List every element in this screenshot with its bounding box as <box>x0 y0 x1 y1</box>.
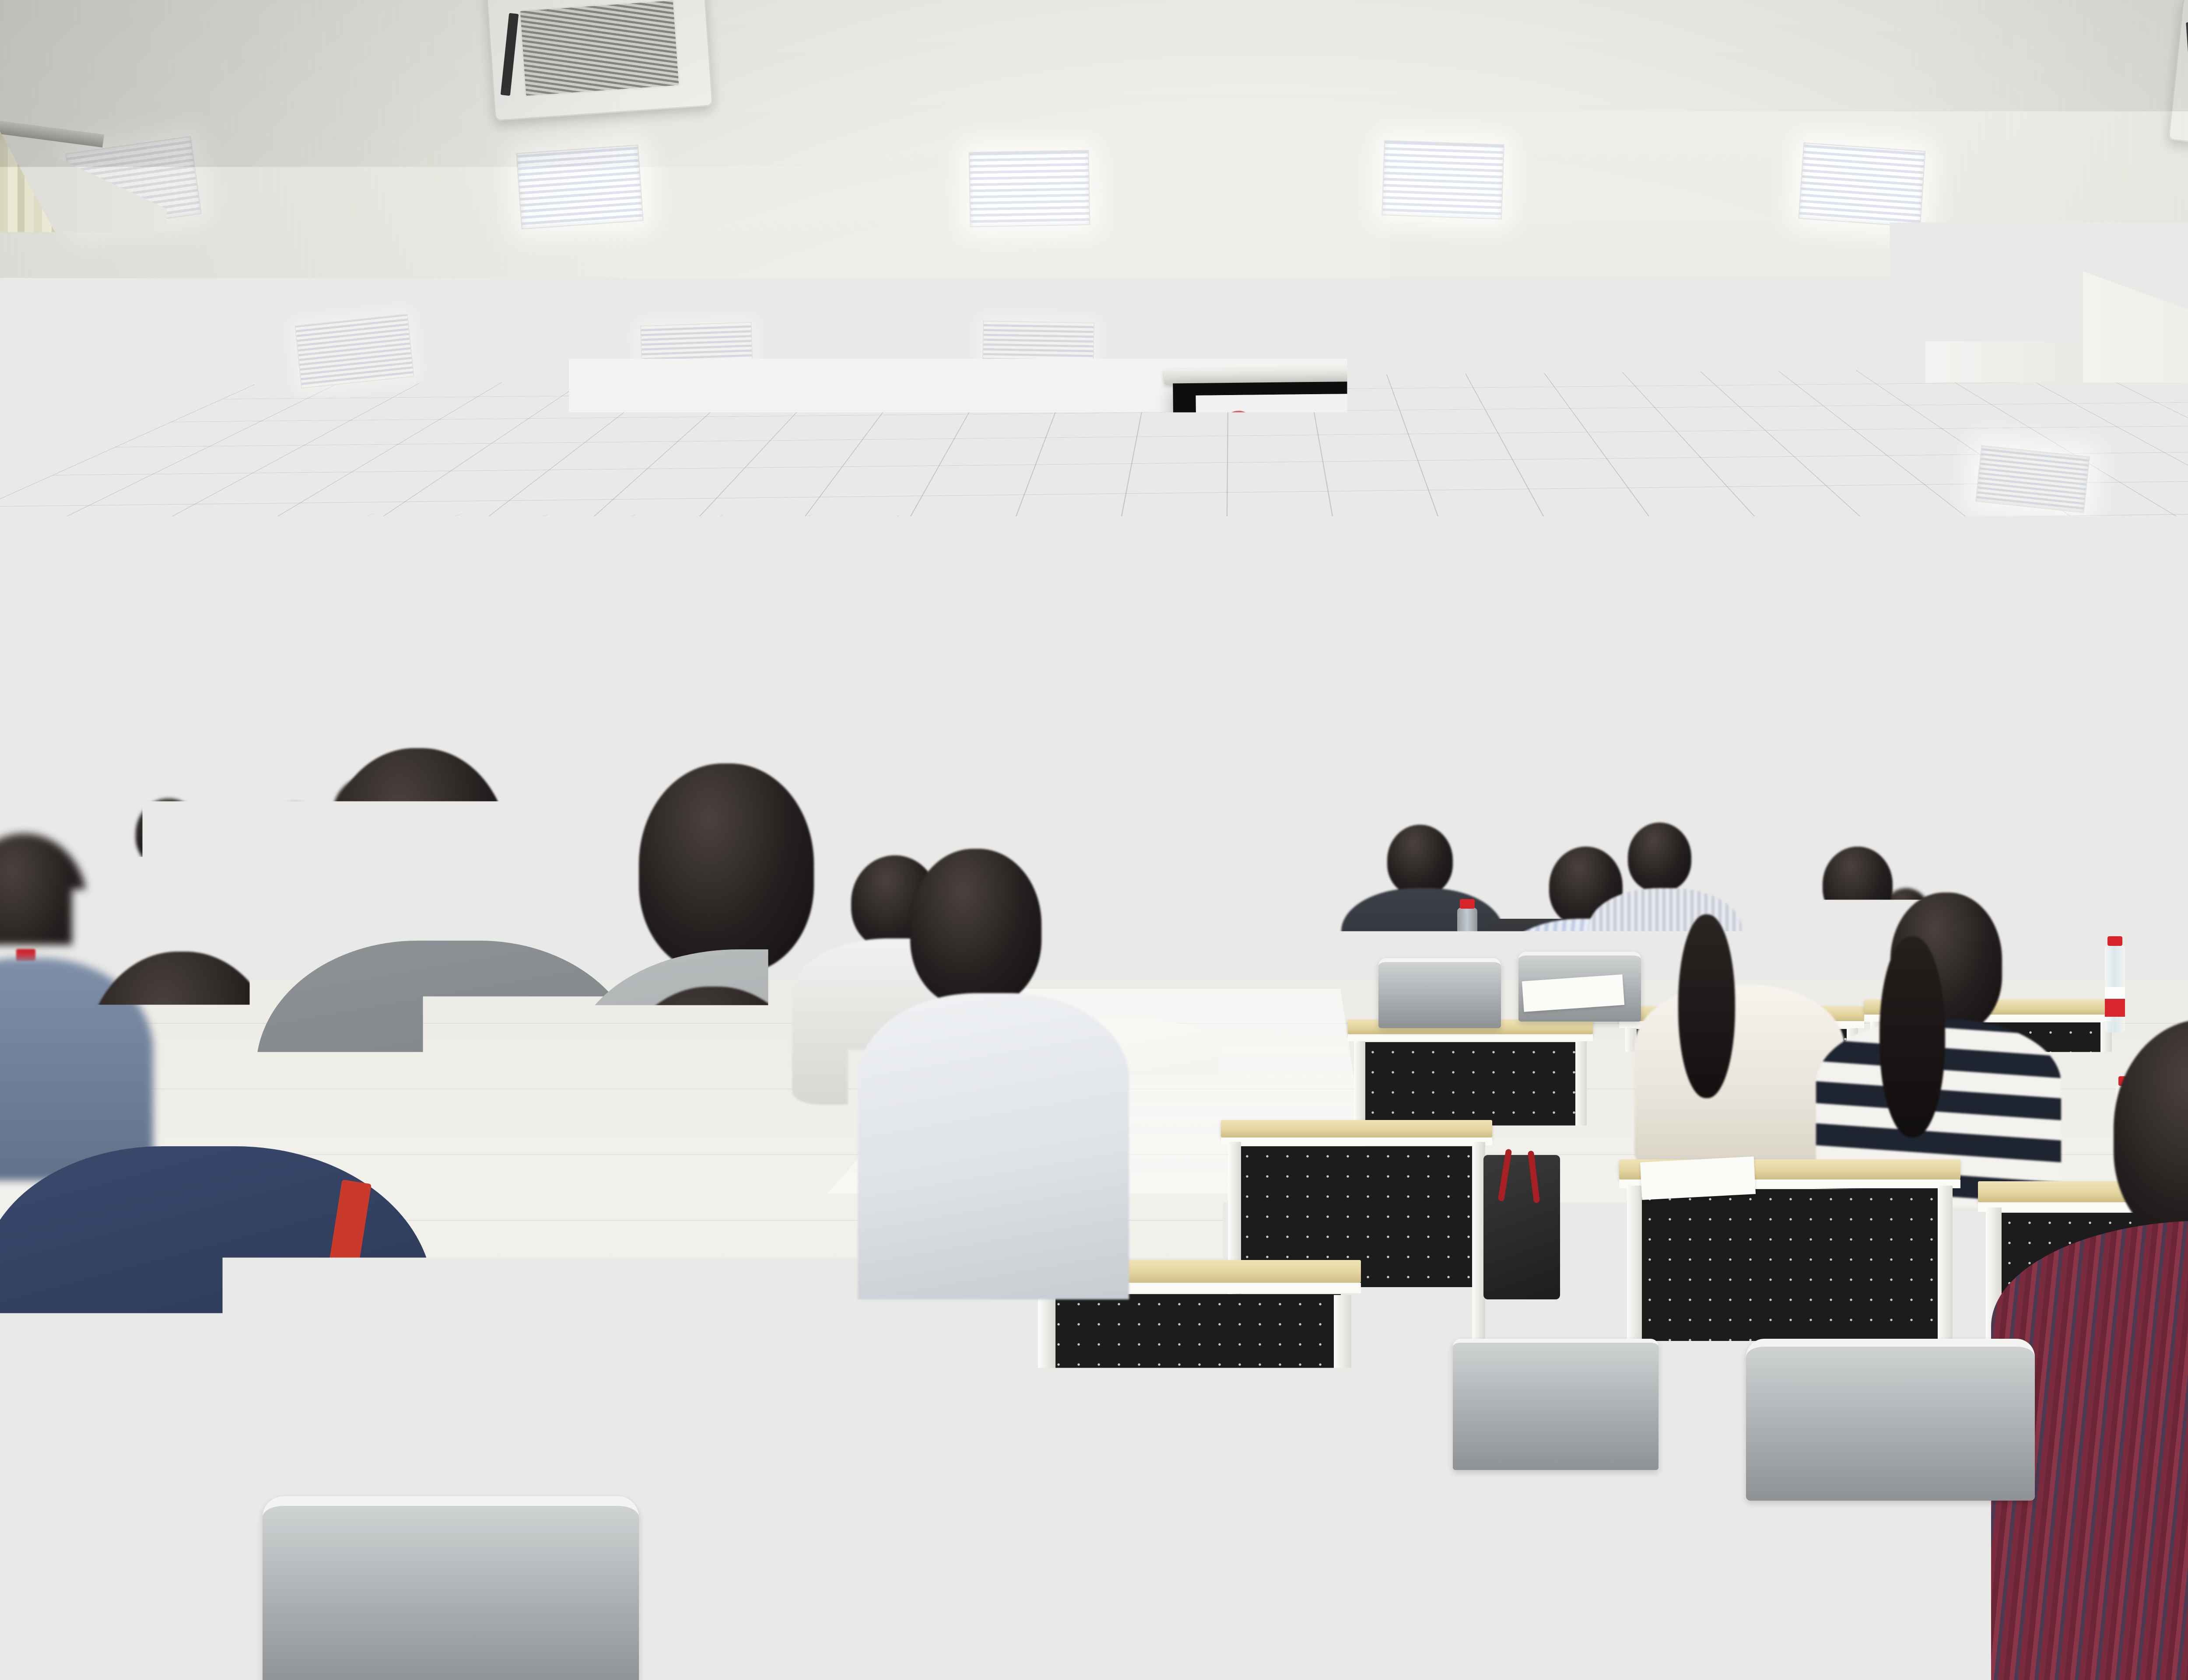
arrow-marker-icon: ➢ <box>1234 679 1250 697</box>
presenter-glasses <box>1084 736 1117 739</box>
logo-chinese-name: 四川大学 <box>1260 414 1328 430</box>
slide-subtitle-line-2: 研究部署2018年下半年工作 <box>1224 554 1809 585</box>
wall-speaker-right <box>1995 488 2061 591</box>
logo-english-name: SICHUAN UNIVERSITY <box>1260 431 1328 437</box>
bullet-marker-icon: • <box>1241 850 1255 857</box>
presenter-face <box>1080 717 1120 763</box>
projector-screen: 四川大学 SICHUAN UNIVERSITY 二、学校新学期工作布置会主要精神… <box>1173 376 1876 870</box>
subtitle-blue-part: 四川大学召开系列会议 <box>1575 528 1764 551</box>
point-1-text: 1、王建国介绍了学校2018年上半年的主要工作。 <box>1225 598 1648 624</box>
arrow-marker-icon: ➢ <box>1234 655 1250 673</box>
attendee-hair <box>1678 914 1735 1098</box>
slide-point-1: 1、王建国介绍了学校2018年上半年的主要工作。 重点推动4件大事： <box>1225 594 1810 653</box>
bullet-marker-icon: • <box>1241 825 1255 843</box>
arrow-item-text: 新时代全国高校本科教育工作会议在学校成功召开 <box>1250 651 1616 673</box>
attendee-hair <box>1879 936 1945 1137</box>
wall-speaker-left <box>894 475 958 576</box>
water-bottle <box>2105 945 2125 1032</box>
arrow-marker-icon: ➢ <box>1234 726 1251 744</box>
slide-subtitle-line-1: 谋篇布局促发展 担当实干创一流——四川大学召开系列会议 <box>1224 526 1809 557</box>
slide-building-photo <box>1717 395 1808 466</box>
national-emblem-icon <box>2128 892 2170 934</box>
presentation-slide: 四川大学 SICHUAN UNIVERSITY 二、学校新学期工作布置会主要精神… <box>1196 389 1830 857</box>
slide-heading: 二、学校新学期工作布置会主要精神 <box>1224 481 1809 522</box>
subtitle-dash: —— <box>1538 530 1575 551</box>
backpack-under-desk <box>1483 1155 1560 1299</box>
attendee-head <box>85 952 278 1179</box>
arrow-item-text: 全面启动校院两级管理体制改革 <box>1251 700 1483 721</box>
slide-university-logo: 四川大学 SICHUAN UNIVERSITY <box>1223 410 1329 442</box>
chair <box>0 1531 184 1680</box>
chair <box>1453 1339 1659 1470</box>
chair <box>263 1496 639 1680</box>
arrow-item-text: 与成都市签署合作协议深化市校合作 <box>1250 675 1516 696</box>
university-seal-icon <box>1223 410 1254 441</box>
front-row-chair <box>1702 832 1781 872</box>
subtitle-line2-text: 研究部署2018年下半年工作 <box>1404 558 1630 581</box>
chair <box>1378 958 1501 1028</box>
arrow-marker-icon: ➢ <box>1234 702 1251 721</box>
lecture-hall-photo: 四川大学 SICHUAN UNIVERSITY 二、学校新学期工作布置会主要精神… <box>0 0 2188 1680</box>
subtitle-red-part: 谋篇布局促发展 担当实干创一流 <box>1269 531 1538 554</box>
slide-accent-rule <box>1224 466 1811 475</box>
folded-cloth-on-table <box>1474 856 1549 878</box>
papers-on-desk <box>1640 1156 1756 1200</box>
slide-content: 二、学校新学期工作布置会主要精神 谋篇布局促发展 担当实干创一流——四川大学召开… <box>1224 481 1813 857</box>
shoe <box>1619 1501 1733 1588</box>
presenter-hand-left <box>1023 807 1055 836</box>
arrow-item-text: 举办纪念汶川地震十周年系列活动等 <box>1251 723 1517 744</box>
screen-projection-area: 四川大学 SICHUAN UNIVERSITY 二、学校新学期工作布置会主要精神… <box>1196 389 1830 857</box>
attendee-head <box>639 763 814 973</box>
